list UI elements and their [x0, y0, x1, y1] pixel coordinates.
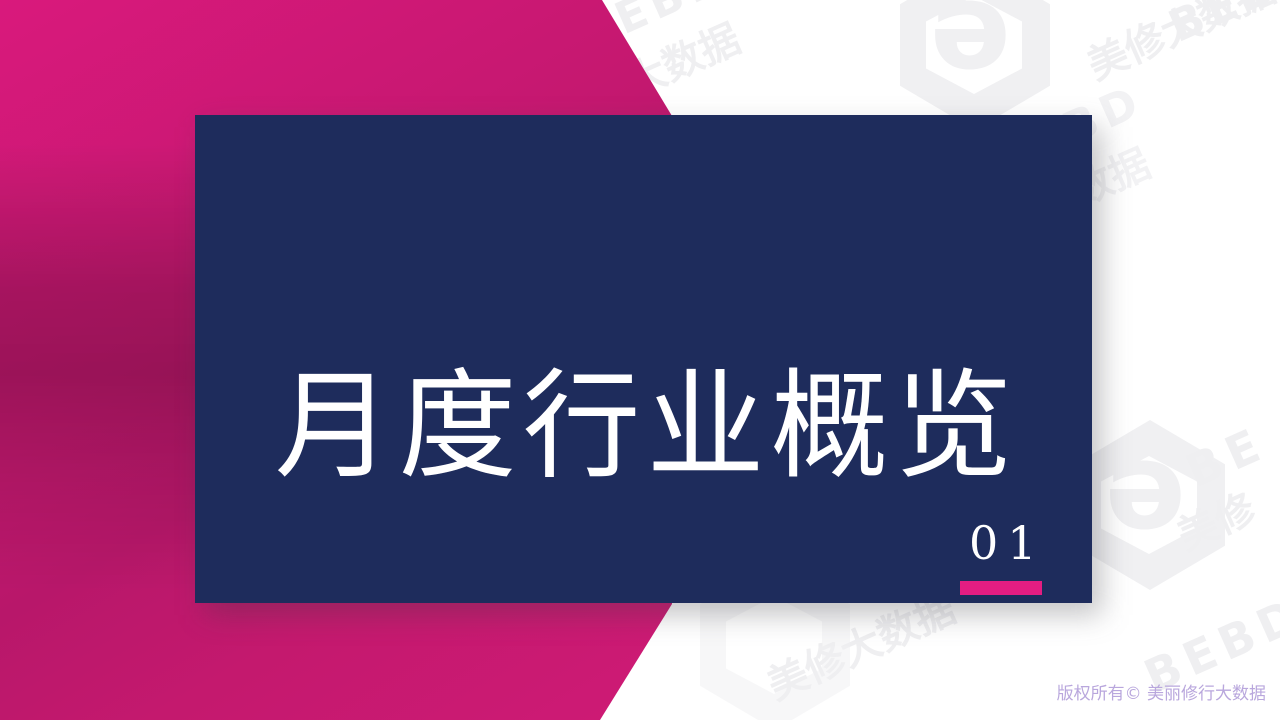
slide-canvas: ə ə 美修大数据 BEBD BEBD 美修大数据 BE 美修 BEBD 美修大…	[0, 0, 1280, 720]
section-number: 01	[960, 520, 1042, 566]
watermark-brand-cn-short: 美修	[1167, 476, 1264, 562]
watermark-brand-en: BEBD	[1161, 0, 1280, 53]
navy-title-card: 月度行业概览 01	[195, 115, 1092, 603]
hexagon-logo-icon	[900, 0, 1050, 130]
copyright-footer: 版权所有© 美丽修行大数据	[1057, 679, 1266, 704]
section-number-group: 01	[960, 520, 1042, 595]
hexagon-s-glyph-icon: ə	[1105, 418, 1186, 557]
hexagon-s-glyph-icon: ə	[930, 0, 1011, 97]
page-title: 月度行业概览	[195, 367, 1092, 485]
watermark-brand-en-short: BE	[1178, 416, 1275, 499]
accent-bar-icon	[960, 581, 1042, 595]
watermark-brand-cn: 美修大数据	[1077, 0, 1280, 91]
